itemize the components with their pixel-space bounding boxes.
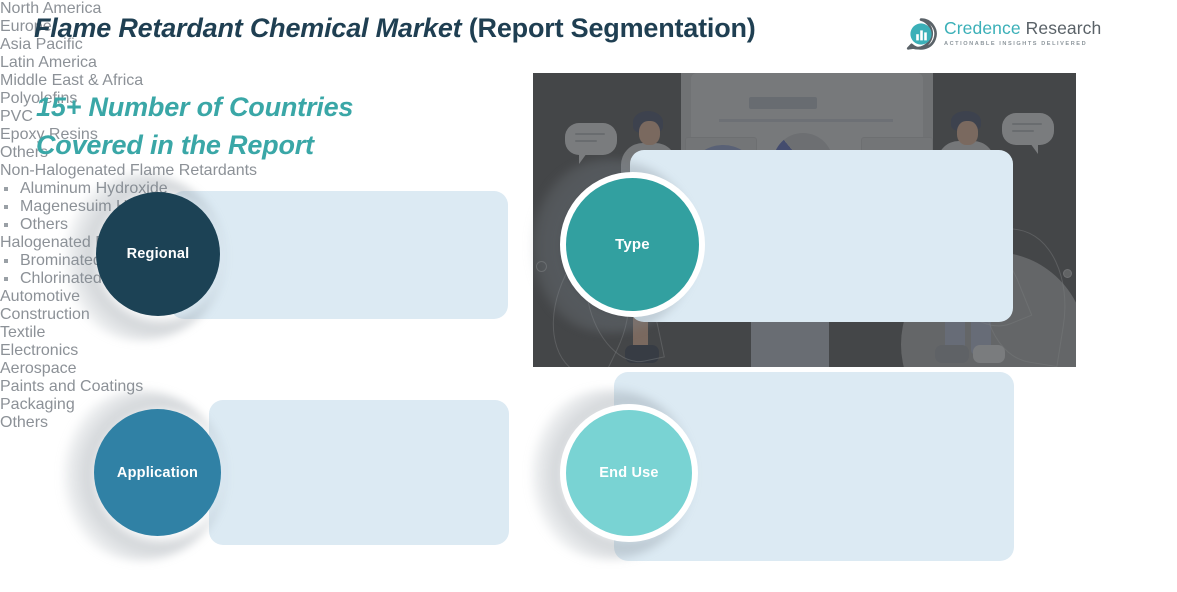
page-title: Flame Retardant Chemical Market (Report …	[34, 13, 756, 44]
page-title-main: Flame Retardant Chemical Market	[34, 13, 461, 43]
logo-wordmark: Credence Research Actionable Insights De…	[944, 20, 1101, 47]
regional-circle-wrap: Regional	[74, 178, 226, 330]
end-use-circle-label: End Use	[599, 465, 658, 481]
application-circle-wrap: Application	[72, 395, 227, 550]
logo-names: Credence Research	[944, 20, 1101, 38]
countries-heading-line2: Covered in the Report	[36, 126, 466, 164]
segment-card-end-use: End Use	[520, 372, 1020, 568]
logo-name-primary: Credence	[944, 18, 1021, 38]
regional-circle[interactable]: Regional	[96, 192, 220, 316]
header: Flame Retardant Chemical Market (Report …	[0, 0, 1177, 62]
type-circle-wrap: Type	[540, 164, 698, 322]
page-title-suffix: (Report Segmentation)	[469, 13, 756, 43]
credence-research-logo: Credence Research Actionable Insights De…	[905, 14, 1095, 54]
type-circle[interactable]: Type	[560, 172, 705, 317]
regional-circle-label: Regional	[127, 246, 190, 262]
countries-covered-heading: 15+ Number of Countries Covered in the R…	[36, 88, 466, 165]
countries-heading-line1: 15+ Number of Countries	[36, 88, 466, 126]
application-panel	[209, 400, 509, 545]
application-circle-label: Application	[117, 465, 198, 481]
segment-card-type: Type	[520, 150, 1020, 340]
logo-name-secondary: Research	[1026, 18, 1102, 38]
logo-tagline: Actionable Insights Delivered	[944, 42, 1101, 48]
end-use-circle[interactable]: End Use	[560, 404, 698, 542]
bar-chart-circle-icon	[905, 18, 937, 50]
segment-card-application: Application	[52, 395, 472, 550]
end-use-circle-wrap: End Use	[540, 394, 695, 549]
type-circle-label: Type	[615, 236, 650, 253]
application-circle[interactable]: Application	[94, 409, 221, 536]
